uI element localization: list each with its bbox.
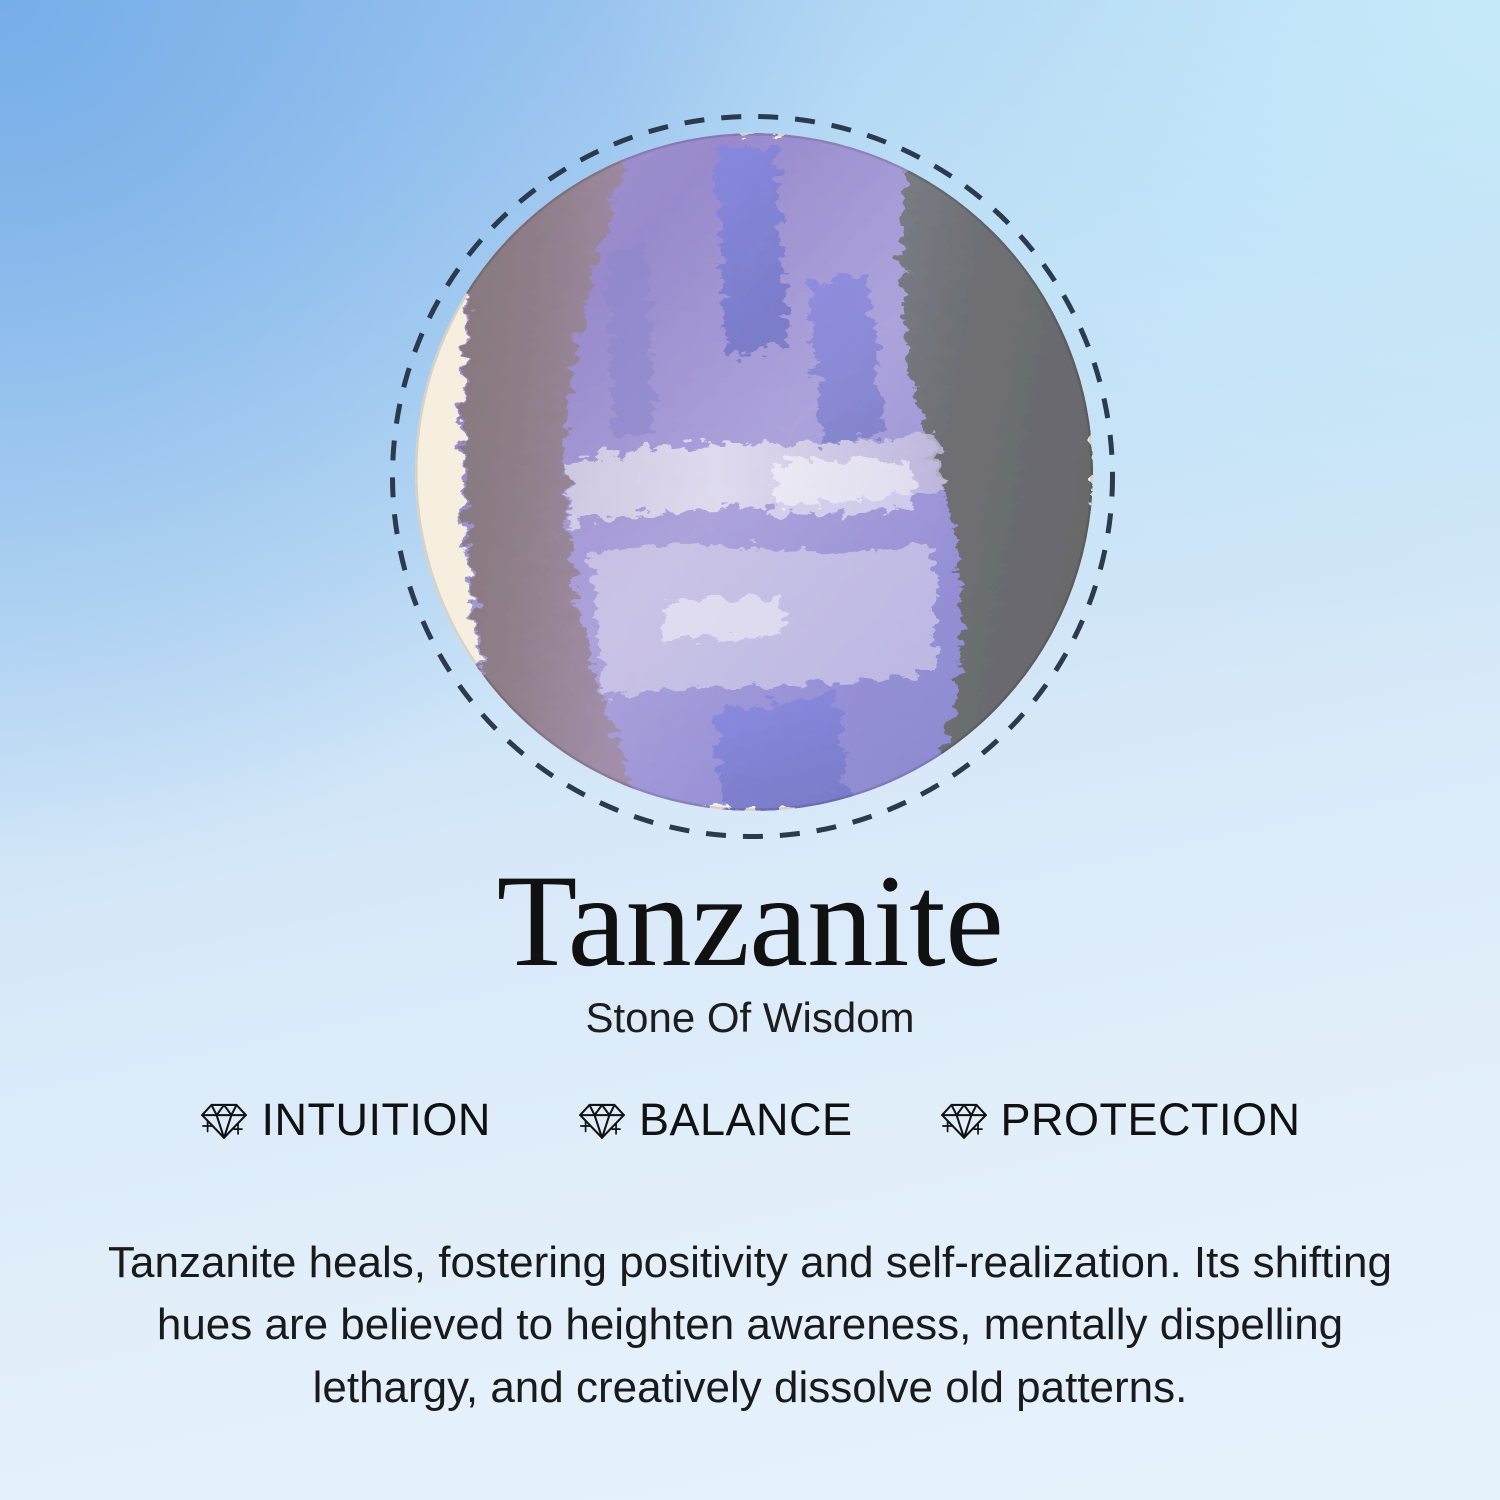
- diamond-gem-icon: [939, 1094, 989, 1144]
- gem-image-frame: [389, 113, 1116, 840]
- page-title: Tanzanite: [0, 855, 1500, 987]
- tanzanite-specimen-photo: [415, 133, 1093, 811]
- diamond-gem-icon: [199, 1094, 249, 1144]
- diamond-gem-icon: [577, 1094, 627, 1144]
- keyword-item-intuition: INTUITION: [199, 1094, 490, 1144]
- keyword-list: INTUITION BALANCE: [0, 1094, 1500, 1144]
- keyword-item-protection: PROTECTION: [939, 1094, 1301, 1144]
- keyword-label: PROTECTION: [1001, 1097, 1301, 1142]
- keyword-item-balance: BALANCE: [577, 1094, 853, 1144]
- keyword-label: INTUITION: [261, 1097, 490, 1142]
- keyword-label: BALANCE: [639, 1097, 853, 1142]
- gemstone-info-card: Tanzanite Stone Of Wisdom INTUITION: [0, 0, 1500, 1500]
- description-text: Tanzanite heals, fostering positivity an…: [95, 1232, 1405, 1419]
- subtitle: Stone Of Wisdom: [0, 993, 1500, 1043]
